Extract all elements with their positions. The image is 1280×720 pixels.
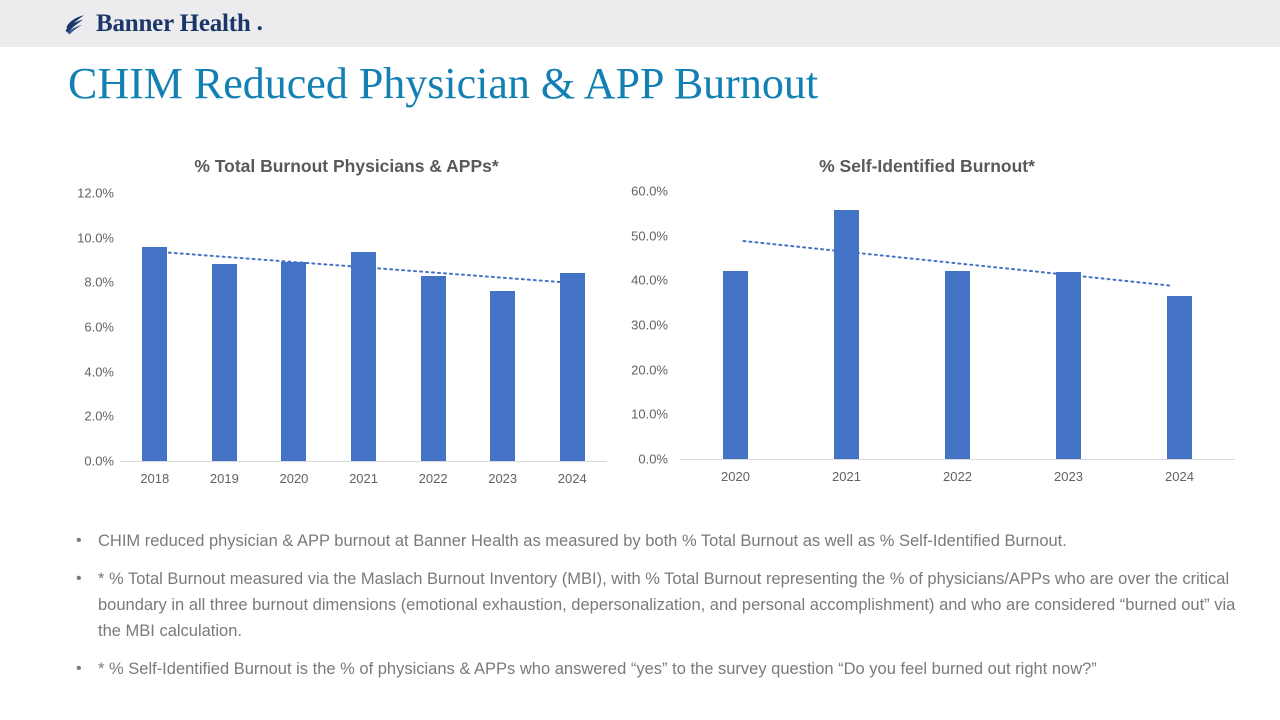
bullet-marker-icon: •: [68, 528, 98, 554]
bar-slot: [537, 193, 607, 461]
plot-wrap: 0.0%2.0%4.0%6.0%8.0%10.0%12.0% 201820192…: [62, 193, 607, 503]
y-axis-tick: 0.0%: [638, 452, 668, 467]
bar-2019[interactable]: [212, 264, 237, 461]
bullet-text: * % Self-Identified Burnout is the % of …: [98, 656, 1258, 682]
bullet-item: •CHIM reduced physician & APP burnout at…: [68, 528, 1258, 554]
bar-2021[interactable]: [834, 210, 859, 459]
plot-area: [120, 193, 607, 462]
y-axis-tick: 4.0%: [84, 364, 114, 379]
x-axis: 20202021202220232024: [680, 461, 1235, 491]
x-axis-tick: 2020: [259, 463, 329, 493]
bar-slot: [398, 193, 468, 461]
bar-2021[interactable]: [351, 252, 376, 461]
bar-2020[interactable]: [281, 262, 306, 461]
bar-slot: [259, 193, 329, 461]
chart-title: % Total Burnout Physicians & APPs*: [62, 155, 607, 177]
y-axis-tick: 2.0%: [84, 409, 114, 424]
plot-wrap: 0.0%10.0%20.0%30.0%40.0%50.0%60.0% 20202…: [622, 191, 1242, 501]
y-axis-tick: 20.0%: [631, 362, 668, 377]
header-bar: Banner Health .: [0, 0, 1280, 47]
bar-slot: [791, 191, 902, 459]
bar-2024[interactable]: [1167, 296, 1192, 459]
x-axis-tick: 2023: [1013, 461, 1124, 491]
bar-2023[interactable]: [490, 291, 515, 461]
brand-trademark: .: [257, 9, 263, 37]
bar-slot: [1013, 191, 1124, 459]
bullet-marker-icon: •: [68, 566, 98, 592]
chart-total-burnout: % Total Burnout Physicians & APPs* 0.0%2…: [62, 155, 607, 505]
x-axis-tick: 2022: [902, 461, 1013, 491]
x-axis-tick: 2024: [1124, 461, 1235, 491]
y-axis-tick: 10.0%: [631, 407, 668, 422]
bar-2022[interactable]: [421, 276, 446, 461]
page-title: CHIM Reduced Physician & APP Burnout: [68, 58, 818, 109]
bullet-text: * % Total Burnout measured via the Masla…: [98, 566, 1258, 644]
y-axis-tick: 40.0%: [631, 273, 668, 288]
x-axis-tick: 2022: [398, 463, 468, 493]
bar-slot: [902, 191, 1013, 459]
bullet-text: CHIM reduced physician & APP burnout at …: [98, 528, 1258, 554]
y-axis-tick: 30.0%: [631, 318, 668, 333]
y-axis: 0.0%10.0%20.0%30.0%40.0%50.0%60.0%: [622, 191, 668, 459]
plot-area: [680, 191, 1235, 460]
bar-slot: [1124, 191, 1235, 459]
banner-health-logo: Banner Health .: [62, 9, 263, 37]
bullet-list: •CHIM reduced physician & APP burnout at…: [68, 528, 1258, 694]
x-axis-tick: 2019: [190, 463, 260, 493]
bullet-item: •* % Total Burnout measured via the Masl…: [68, 566, 1258, 644]
bar-2020[interactable]: [723, 271, 748, 459]
y-axis-tick: 50.0%: [631, 228, 668, 243]
bar-slot: [329, 193, 399, 461]
bar-slot: [468, 193, 538, 461]
y-axis-tick: 8.0%: [84, 275, 114, 290]
bar-slot: [120, 193, 190, 461]
bar-2018[interactable]: [142, 247, 167, 461]
x-axis-tick: 2021: [329, 463, 399, 493]
x-axis: 2018201920202021202220232024: [120, 463, 607, 493]
x-axis-tick: 2023: [468, 463, 538, 493]
bullet-item: •* % Self-Identified Burnout is the % of…: [68, 656, 1258, 682]
bar-2022[interactable]: [945, 271, 970, 459]
x-axis-tick: 2018: [120, 463, 190, 493]
y-axis-tick: 60.0%: [631, 184, 668, 199]
y-axis-tick: 10.0%: [77, 230, 114, 245]
chart-title: % Self-Identified Burnout*: [622, 155, 1222, 177]
bullet-marker-icon: •: [68, 656, 98, 682]
bar-slot: [190, 193, 260, 461]
x-axis-tick: 2021: [791, 461, 902, 491]
bar-slot: [680, 191, 791, 459]
y-axis-tick: 12.0%: [77, 186, 114, 201]
wave-mark-icon: [62, 9, 90, 37]
y-axis: 0.0%2.0%4.0%6.0%8.0%10.0%12.0%: [62, 193, 114, 461]
x-axis-tick: 2024: [537, 463, 607, 493]
bar-2024[interactable]: [560, 273, 585, 461]
brand-name: Banner Health: [96, 11, 251, 36]
y-axis-tick: 0.0%: [84, 454, 114, 469]
bar-2023[interactable]: [1056, 272, 1081, 459]
chart-self-identified-burnout: % Self-Identified Burnout* 0.0%10.0%20.0…: [622, 155, 1242, 505]
x-axis-tick: 2020: [680, 461, 791, 491]
y-axis-tick: 6.0%: [84, 320, 114, 335]
